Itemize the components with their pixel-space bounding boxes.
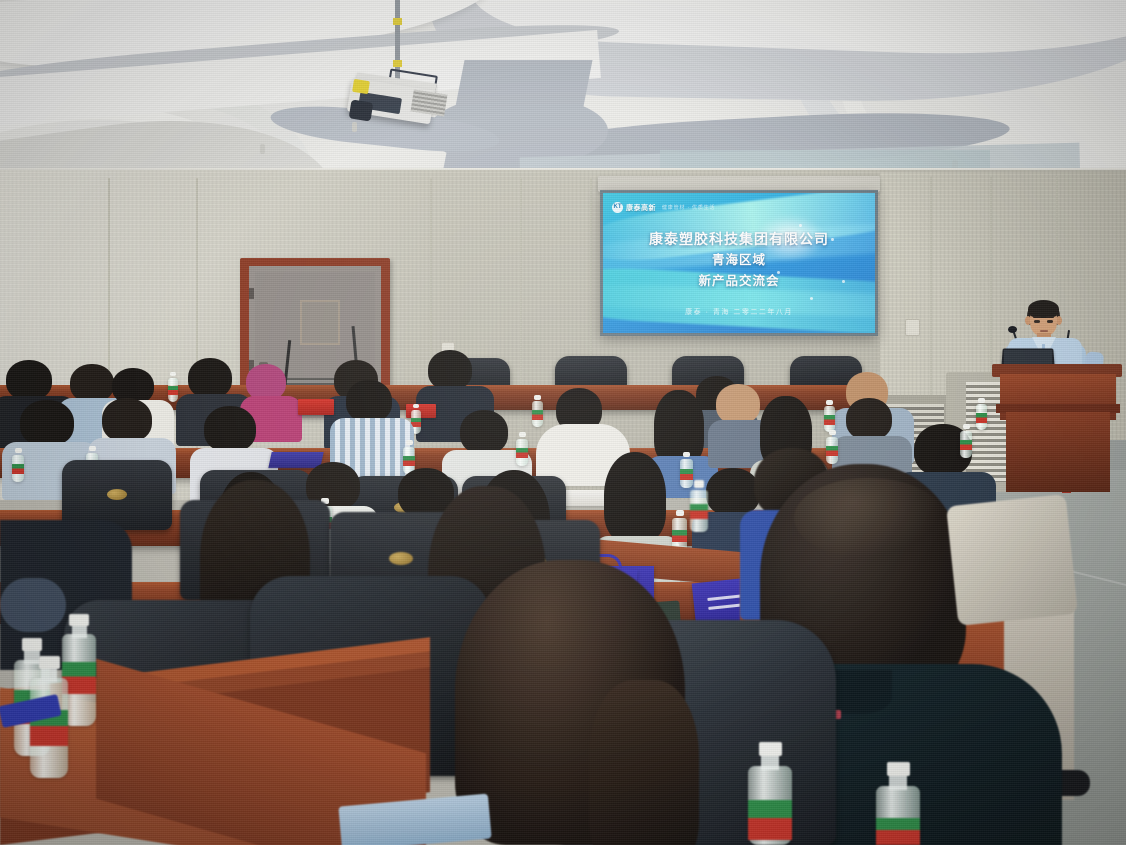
slide-particle [799, 224, 802, 227]
presenter-eyebrow [1046, 316, 1054, 318]
projector-lens-icon [349, 99, 374, 121]
conference-room-photo: KT 康泰高新 健康管材 · 优质生活 康泰塑胶科技集团有限公司 青海区域 新产… [0, 0, 1126, 845]
projector-yellow-tag [352, 79, 370, 94]
presenter-eye [1034, 320, 1040, 323]
document-folder[interactable] [268, 452, 323, 468]
sprinkler-icon [260, 144, 265, 154]
slide-logo: KT 康泰高新 健康管材 · 优质生活 [612, 202, 715, 213]
water-bottle[interactable] [824, 400, 835, 432]
water-bottle[interactable] [876, 762, 920, 845]
wall-socket[interactable] [905, 319, 920, 336]
door-inset-panel [300, 300, 340, 345]
water-bottle[interactable] [516, 432, 528, 466]
water-bottle[interactable] [12, 448, 24, 482]
water-bottle[interactable] [690, 480, 708, 532]
slide-logo-subtext: 健康管材 · 优质生活 [662, 204, 715, 211]
wall-panel-seam [930, 176, 932, 406]
presenter-eye [1047, 320, 1053, 323]
slide-footer: 康泰 · 青海 二零二二年八月 [603, 307, 875, 317]
projection-screen-surface: KT 康泰高新 健康管材 · 优质生活 康泰塑胶科技集团有限公司 青海区域 新产… [603, 193, 875, 333]
name-placard [298, 399, 334, 415]
projector-pole-clamp-icon [393, 60, 402, 67]
water-bottle[interactable] [748, 742, 792, 845]
slide-logo-text: 康泰高新 [626, 203, 656, 213]
laptop-screen [1004, 350, 1052, 365]
slide-particle [810, 297, 813, 300]
water-bottle[interactable] [403, 440, 415, 474]
wall-panel-seam [990, 176, 992, 386]
projection-screen: KT 康泰高新 健康管材 · 优质生活 康泰塑胶科技集团有限公司 青海区域 新产… [600, 190, 878, 336]
presenter-eyebrow [1033, 316, 1041, 318]
water-bottle[interactable] [960, 424, 972, 458]
slide-title-line3: 新产品交流会 [603, 271, 875, 292]
sprinkler-icon [352, 122, 357, 132]
door-hinge-icon [249, 288, 254, 299]
brand-mark-icon: KT [612, 202, 623, 213]
water-bottle[interactable] [976, 398, 987, 430]
projector-mount-pole [395, 0, 400, 80]
slide-title-line2: 青海区域 [603, 250, 875, 271]
water-bottle[interactable] [168, 372, 178, 402]
slide-title-block: 康泰塑胶科技集团有限公司 青海区域 新产品交流会 [603, 229, 875, 293]
podium-base [1006, 412, 1110, 492]
presenter-mouth [1040, 330, 1048, 332]
projector-pole-clamp-icon [393, 18, 402, 25]
bag-on-floor [946, 494, 1078, 626]
water-bottle[interactable] [532, 395, 543, 427]
water-bottle[interactable] [826, 430, 838, 464]
slide-title-line1: 康泰塑胶科技集团有限公司 [603, 229, 875, 250]
microphone-head-icon [1008, 326, 1017, 333]
